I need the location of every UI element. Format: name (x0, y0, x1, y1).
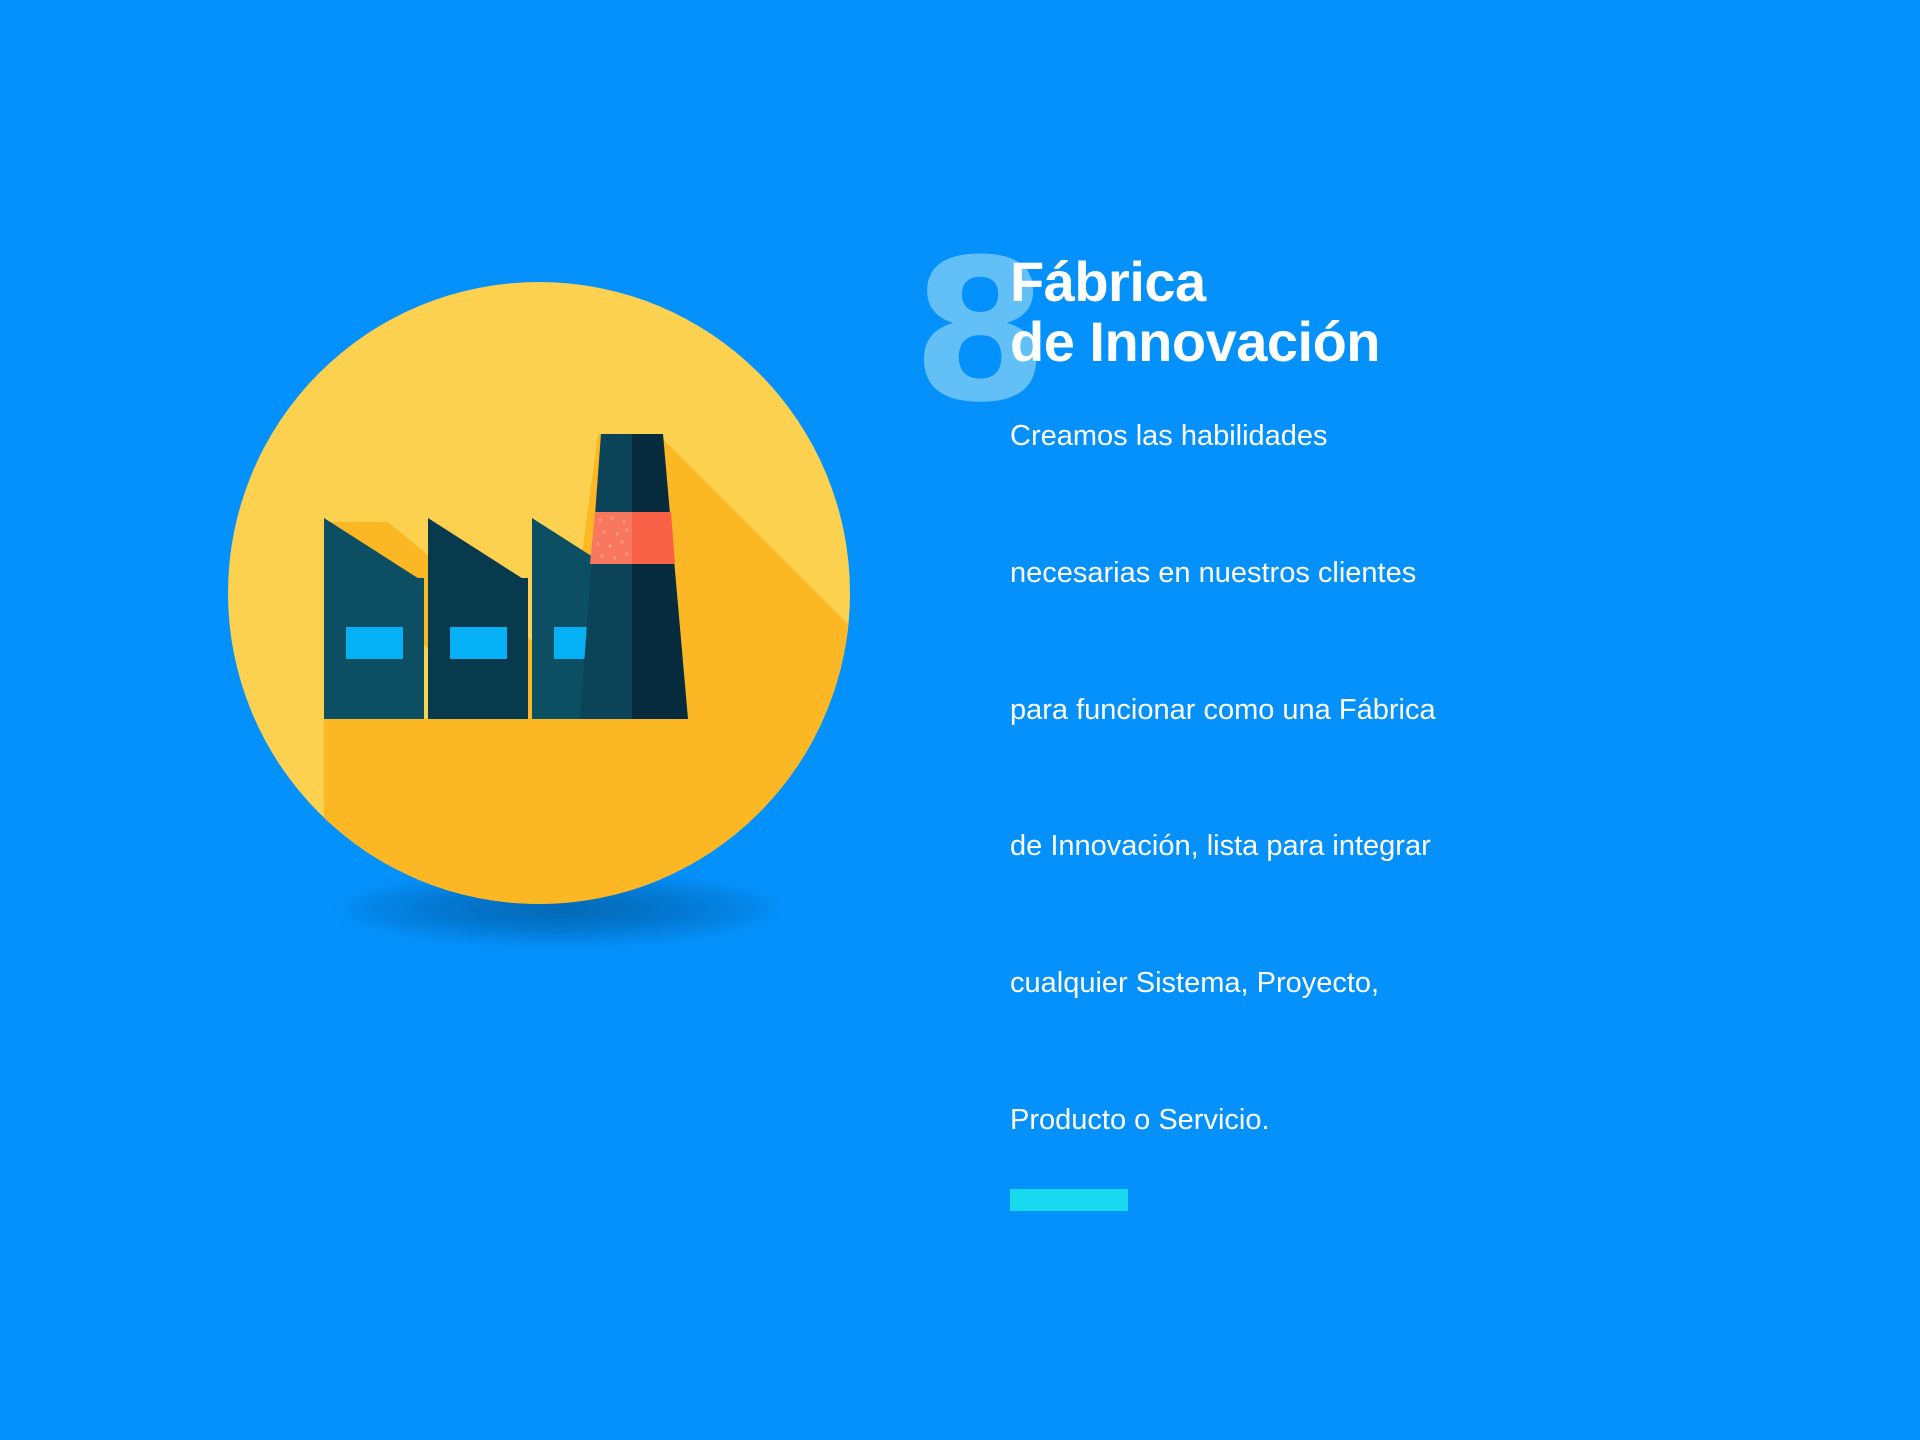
factory-window-2 (450, 627, 507, 659)
factory-window-1 (346, 627, 403, 659)
page-title: Fábrica de Innovación (1010, 252, 1830, 372)
factory-shapes (228, 282, 850, 904)
factory-chimney-band-left (590, 512, 632, 564)
accent-bar (1010, 1189, 1128, 1211)
yellow-circle-backdrop (228, 282, 850, 904)
body-paragraph: Creamos las habilidades necesarias en nu… (1010, 402, 1480, 1155)
content-column: 8 Fábrica de Innovación Creamos las habi… (1010, 252, 1830, 1211)
factory-chimney-right (632, 434, 688, 719)
factory-chimney-band-right (632, 512, 675, 564)
factory-illustration (228, 282, 850, 904)
